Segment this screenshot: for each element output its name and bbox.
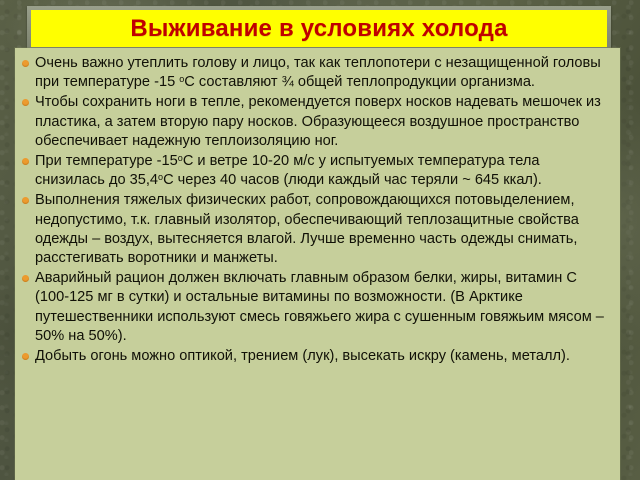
slide-root: Выживание в условиях холода Очень важно … (0, 0, 640, 480)
bullet-list: Очень важно утеплить голову и лицо, так … (21, 54, 612, 366)
list-item: Добыть огонь можно оптикой, трением (лук… (21, 347, 612, 366)
bullet-text-feet-socks: Чтобы сохранить ноги в тепле, рекомендуе… (35, 93, 612, 151)
list-item: Аварийный рацион должен включать главным… (21, 269, 612, 346)
page-title: Выживание в условиях холода (130, 17, 507, 41)
bullet-text-making-fire: Добыть огонь можно оптикой, трением (лук… (35, 347, 612, 366)
slide-title-banner: Выживание в условиях холода (31, 10, 607, 47)
bullet-dot-icon (22, 353, 29, 360)
list-item: Выполнения тяжелых физических работ, соп… (21, 191, 612, 268)
bullet-text-heavy-work-sweat: Выполнения тяжелых физических работ, соп… (35, 191, 612, 268)
bullet-text-head-face: Очень важно утеплить голову и лицо, так … (35, 54, 612, 92)
content-panel: Очень важно утеплить голову и лицо, так … (15, 48, 620, 480)
bullet-dot-icon (22, 158, 29, 165)
bullet-text-temperature-wind: При температуре -15oС и ветре 10-20 м/с … (35, 152, 612, 190)
bullet-dot-icon (22, 99, 29, 106)
list-item: Чтобы сохранить ноги в тепле, рекомендуе… (21, 93, 612, 151)
list-item: При температуре -15oС и ветре 10-20 м/с … (21, 152, 612, 190)
bullet-dot-icon (22, 60, 29, 67)
list-item: Очень важно утеплить голову и лицо, так … (21, 54, 612, 92)
bullet-dot-icon (22, 197, 29, 204)
bullet-dot-icon (22, 275, 29, 282)
bullet-text-emergency-ration: Аварийный рацион должен включать главным… (35, 269, 612, 346)
